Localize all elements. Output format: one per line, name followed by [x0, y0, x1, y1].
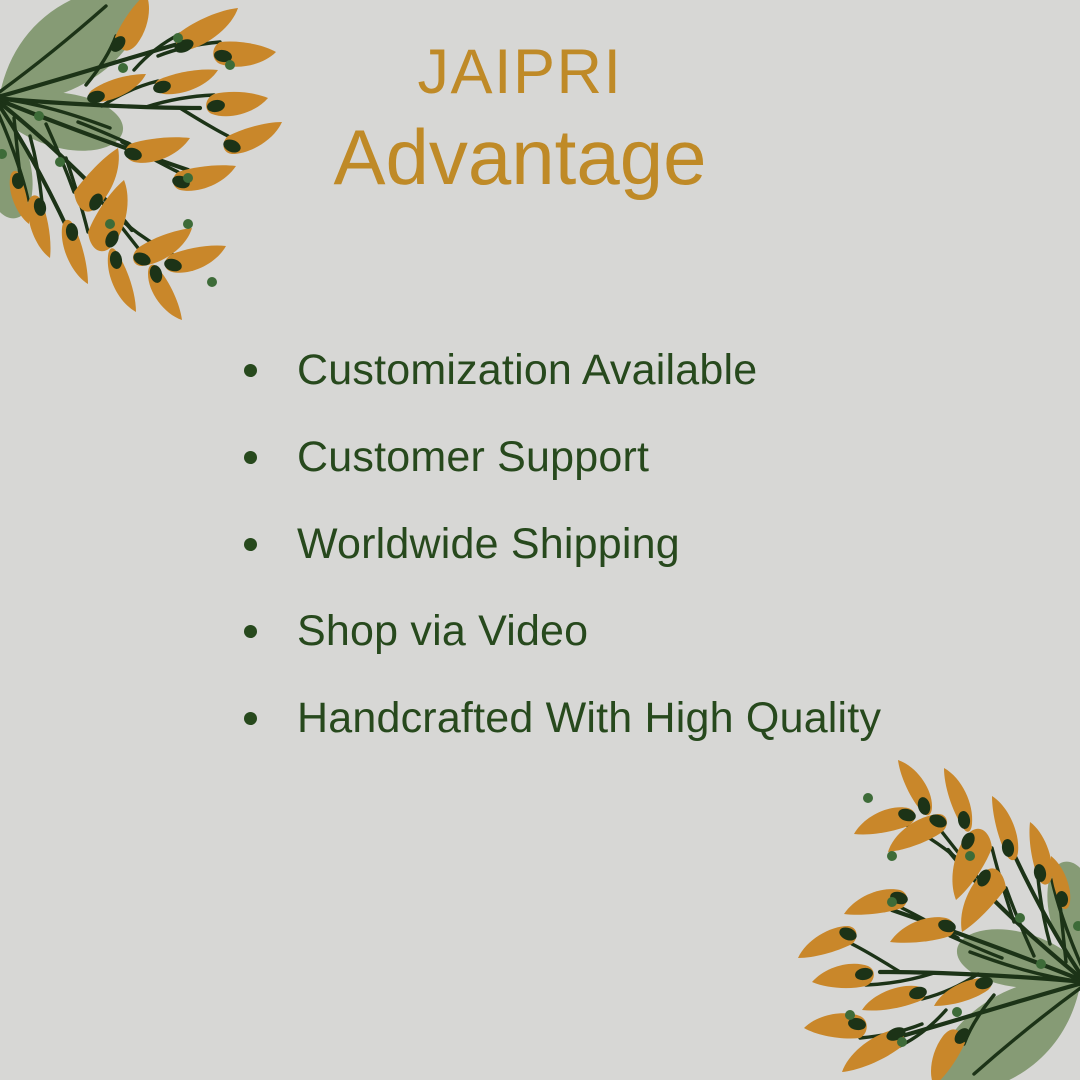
- list-item-label: Handcrafted With High Quality: [297, 697, 881, 740]
- list-item: Customer Support: [244, 428, 881, 486]
- list-item-label: Customization Available: [297, 349, 757, 392]
- list-item: Handcrafted With High Quality: [244, 689, 881, 747]
- benefits-list: Customization Available Customer Support…: [244, 341, 881, 747]
- page-title: JAIPRI Advantage: [280, 40, 760, 198]
- bullet-dot-icon: [244, 538, 257, 551]
- poster-canvas: JAIPRI Advantage Customization Available…: [0, 0, 1080, 1080]
- list-item: Worldwide Shipping: [244, 515, 881, 573]
- list-item: Shop via Video: [244, 602, 881, 660]
- bullet-dot-icon: [244, 451, 257, 464]
- list-item-label: Shop via Video: [297, 610, 588, 653]
- list-item: Customization Available: [244, 341, 881, 399]
- list-item-label: Customer Support: [297, 436, 649, 479]
- botanical-branch-bottom-right-icon: [768, 754, 1080, 1080]
- list-item-label: Worldwide Shipping: [297, 523, 680, 566]
- brand-name: JAIPRI: [280, 40, 760, 104]
- bullet-dot-icon: [244, 625, 257, 638]
- title-subline: Advantage: [280, 118, 760, 198]
- bullet-dot-icon: [244, 712, 257, 725]
- bullet-dot-icon: [244, 364, 257, 377]
- botanical-branch-top-left-icon: [0, 0, 312, 326]
